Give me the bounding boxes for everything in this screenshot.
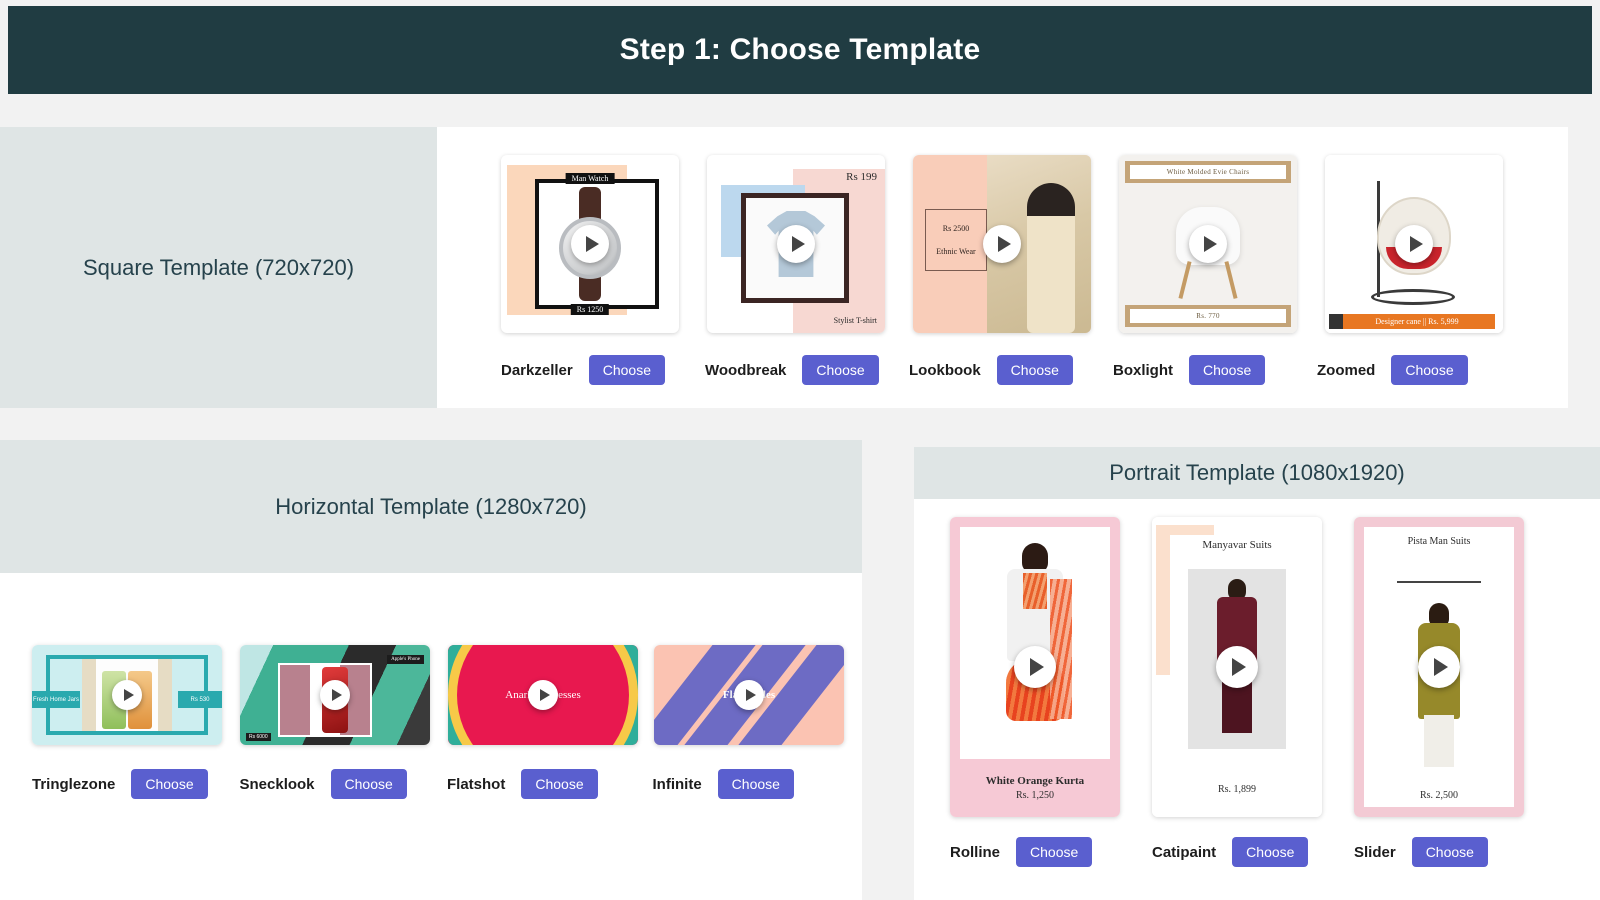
dark-square-accent <box>1329 314 1343 329</box>
template-thumbnail-catipaint[interactable]: Manyavar Suits Rs. 1,899 <box>1152 517 1322 817</box>
choose-button-flatshot[interactable]: Choose <box>521 769 597 799</box>
pyjama-shape <box>1424 715 1454 767</box>
model-figure <box>1027 183 1075 333</box>
play-icon[interactable] <box>983 225 1021 263</box>
template-thumbnail-darkzeller[interactable]: Man Watch Rs 1250 <box>501 155 679 333</box>
thumb-title-text: White Molded Evie Chairs <box>1130 165 1286 179</box>
play-icon[interactable] <box>1395 225 1433 263</box>
choose-button-tringlezone[interactable]: Choose <box>131 769 207 799</box>
choose-button-infinite[interactable]: Choose <box>718 769 794 799</box>
stand-base <box>1371 289 1455 305</box>
square-template-gallery: Man Watch Rs 1250 Rs 199 Stylist T-shirt <box>437 127 1568 408</box>
template-entry-darkzeller: Darkzeller Choose <box>501 355 705 385</box>
template-name-rolline: Rolline <box>950 844 1000 861</box>
template-name-darkzeller: Darkzeller <box>501 362 573 379</box>
thumb-price-text: Rs 2500 <box>943 224 969 233</box>
template-thumbnail-slider[interactable]: Pista Man Suits Rs. 2,500 <box>1354 517 1524 817</box>
play-icon[interactable] <box>320 680 350 710</box>
template-name-tringlezone: Tringlezone <box>32 776 115 793</box>
template-thumbnail-snecklook[interactable]: Apple's Phone Rs 6000 <box>240 645 430 745</box>
template-thumbnail-tringlezone[interactable]: Fresh Home Jars Rs 530 <box>32 645 222 745</box>
choose-button-rolline[interactable]: Choose <box>1016 837 1092 867</box>
choose-button-boxlight[interactable]: Choose <box>1189 355 1265 385</box>
horizontal-template-gallery: Fresh Home Jars Rs 530 Apple's Phone Rs … <box>0 573 862 900</box>
caption-box: Rs 2500 Ethnic Wear <box>925 209 987 271</box>
square-section-title: Square Template (720x720) <box>0 127 437 408</box>
choose-button-slider[interactable]: Choose <box>1412 837 1488 867</box>
thumb-title-text: Stylist T-shirt <box>834 316 877 325</box>
play-icon[interactable] <box>528 680 558 710</box>
portrait-caption-row: Rolline Choose Catipaint Choose Slider C… <box>950 837 1590 867</box>
template-entry-infinite: Infinite Choose <box>653 769 853 799</box>
template-entry-snecklook: Snecklook Choose <box>240 769 448 799</box>
template-thumbnail-woodbreak[interactable]: Rs 199 Stylist T-shirt <box>707 155 885 333</box>
thumb-title-text: White Orange Kurta <box>986 775 1084 787</box>
thumb-title-text: Manyavar Suits <box>1152 539 1322 551</box>
thumb-title-text: Designer cane || Rs. 5,999 <box>1339 314 1495 329</box>
thumb-title-text: Man Watch <box>566 173 615 184</box>
template-entry-boxlight: Boxlight Choose <box>1113 355 1317 385</box>
template-entry-rolline: Rolline Choose <box>950 837 1152 867</box>
template-name-boxlight: Boxlight <box>1113 362 1173 379</box>
template-name-woodbreak: Woodbreak <box>705 362 786 379</box>
play-icon[interactable] <box>777 225 815 263</box>
portrait-section-title: Portrait Template (1080x1920) <box>914 447 1600 499</box>
portrait-template-section: Portrait Template (1080x1920) White Oran… <box>910 440 1600 900</box>
thumb-title-text: Apple's Phone <box>387 655 424 664</box>
template-thumbnail-boxlight[interactable]: White Molded Evie Chairs Rs. 770 <box>1119 155 1297 333</box>
choose-button-snecklook[interactable]: Choose <box>331 769 407 799</box>
caption-area: White Orange Kurta Rs. 1,250 <box>950 759 1120 817</box>
kurta-chest-pattern <box>1023 573 1047 609</box>
thumb-price-text: Rs. 1,250 <box>1016 790 1054 801</box>
template-entry-woodbreak: Woodbreak Choose <box>705 355 909 385</box>
thumb-price-text: Rs 530 <box>178 691 222 708</box>
template-thumbnail-flatshot[interactable]: Anarkali Dresses <box>448 645 638 745</box>
thumb-price-text: Rs. 770 <box>1130 309 1286 323</box>
divider-rule <box>1397 581 1481 583</box>
template-name-infinite: Infinite <box>653 776 702 793</box>
thumb-title-text: Pista Man Suits <box>1354 535 1524 549</box>
template-name-zoomed: Zoomed <box>1317 362 1375 379</box>
horizontal-section-title: Horizontal Template (1280x720) <box>0 440 862 573</box>
template-entry-catipaint: Catipaint Choose <box>1152 837 1354 867</box>
thumb-price-text: Rs. 1,899 <box>1152 784 1322 795</box>
thumb-price-text: Rs 6000 <box>246 733 271 741</box>
bottom-band: Rs. 770 <box>1125 305 1291 327</box>
template-name-snecklook: Snecklook <box>240 776 315 793</box>
play-icon[interactable] <box>734 680 764 710</box>
square-caption-row: Darkzeller Choose Woodbreak Choose Lookb… <box>501 355 1521 385</box>
choose-button-catipaint[interactable]: Choose <box>1232 837 1308 867</box>
page-title: Step 1: Choose Template <box>620 33 981 67</box>
template-entry-tringlezone: Tringlezone Choose <box>32 769 240 799</box>
template-name-lookbook: Lookbook <box>909 362 981 379</box>
thumb-price-text: Rs 1250 <box>571 304 609 315</box>
horizontal-template-section: Horizontal Template (1280x720) Fresh Hom… <box>0 440 870 900</box>
thumb-title-text: Ethnic Wear <box>936 247 975 256</box>
template-name-catipaint: Catipaint <box>1152 844 1216 861</box>
play-icon[interactable] <box>1189 225 1227 263</box>
choose-button-zoomed[interactable]: Choose <box>1391 355 1467 385</box>
template-thumbnail-lookbook[interactable]: Rs 2500 Ethnic Wear <box>913 155 1091 333</box>
template-thumbnail-rolline[interactable]: White Orange Kurta Rs. 1,250 <box>950 517 1120 817</box>
thumb-title-text: Fresh Home Jars <box>32 691 80 708</box>
page-header: Step 1: Choose Template <box>8 6 1592 94</box>
thumb-price-text: Rs. 2,500 <box>1354 790 1524 801</box>
thumb-price-text: Rs 199 <box>846 171 877 183</box>
template-name-slider: Slider <box>1354 844 1396 861</box>
choose-button-lookbook[interactable]: Choose <box>997 355 1073 385</box>
square-template-section: Square Template (720x720) Man Watch Rs 1… <box>0 127 1568 408</box>
choose-button-darkzeller[interactable]: Choose <box>589 355 665 385</box>
top-band: White Molded Evie Chairs <box>1125 161 1291 183</box>
template-entry-slider: Slider Choose <box>1354 837 1556 867</box>
dupatta <box>1050 579 1072 719</box>
model-figure <box>996 543 1074 743</box>
play-icon[interactable] <box>571 225 609 263</box>
horizontal-caption-row: Tringlezone Choose Snecklook Choose Flat… <box>32 769 852 799</box>
portrait-template-gallery: White Orange Kurta Rs. 1,250 Manyavar Su… <box>914 499 1600 900</box>
template-entry-zoomed: Zoomed Choose <box>1317 355 1521 385</box>
template-name-flatshot: Flatshot <box>447 776 505 793</box>
choose-button-woodbreak[interactable]: Choose <box>802 355 878 385</box>
play-icon[interactable] <box>1418 646 1460 688</box>
play-icon[interactable] <box>1216 646 1258 688</box>
template-thumbnail-infinite[interactable]: Flash Sales <box>654 645 844 745</box>
template-thumbnail-zoomed[interactable]: Designer cane || Rs. 5,999 <box>1325 155 1503 333</box>
template-entry-lookbook: Lookbook Choose <box>909 355 1113 385</box>
template-entry-flatshot: Flatshot Choose <box>447 769 653 799</box>
play-icon[interactable] <box>1014 646 1056 688</box>
play-icon[interactable] <box>112 680 142 710</box>
